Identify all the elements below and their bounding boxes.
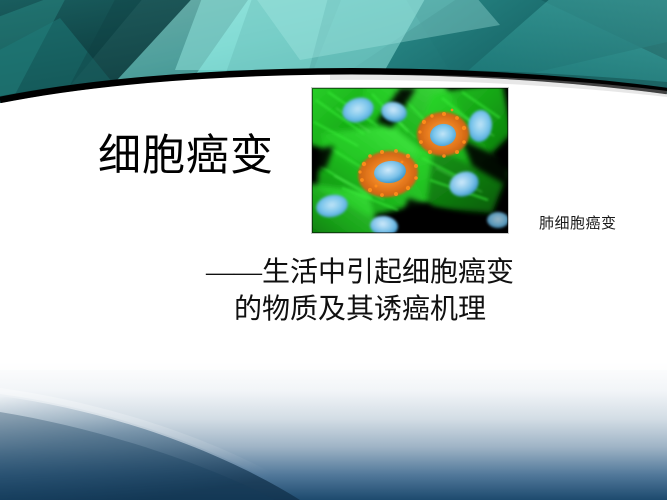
slide-subtitle: ——生活中引起细胞癌变 的物质及其诱癌机理 — [150, 255, 570, 329]
subtitle-line-2: 的物质及其诱癌机理 — [150, 292, 570, 329]
presentation-slide: 肺细胞癌变 细胞癌变 ——生活中引起细胞癌变 的物质及其诱癌机理 — [0, 0, 667, 500]
slide-title: 细胞癌变 — [98, 133, 274, 181]
footer-decoration-band — [0, 360, 667, 500]
subtitle-line-1: ——生活中引起细胞癌变 — [150, 255, 570, 292]
cell-micrograph-image — [311, 87, 509, 234]
image-caption: 肺细胞癌变 — [539, 212, 617, 233]
fluorescence-micrograph-graphic — [312, 88, 508, 233]
footer-gradient-graphic — [0, 360, 667, 500]
